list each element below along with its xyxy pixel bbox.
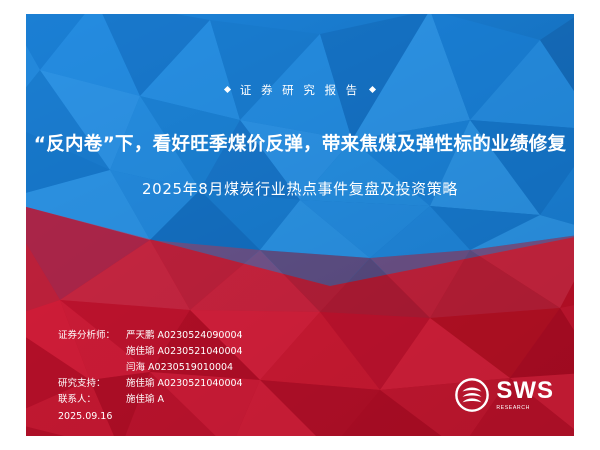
- analyst-row-2: 施佳瑜 A0230521040004: [58, 344, 243, 360]
- contact-label: 联系人：: [58, 392, 126, 408]
- sws-logo: SWS RESEARCH: [455, 378, 554, 412]
- report-eyebrow: 证 券 研 究 报 告: [0, 82, 600, 98]
- eyebrow-label: 证 券 研 究 报 告: [240, 83, 360, 97]
- report-date: 2025.09.16: [58, 409, 112, 425]
- sws-logo-mark-icon: [455, 378, 489, 412]
- diamond-left-icon: [224, 86, 231, 93]
- analyst-name-1: 严天鹏 A0230524090004: [126, 328, 243, 344]
- support-value: 施佳瑜 A0230521040004: [126, 376, 243, 392]
- analyst-label: 证券分析师：: [58, 328, 126, 344]
- contact-value: 施佳瑜 A: [126, 392, 164, 408]
- date-row: 2025.09.16: [58, 409, 243, 425]
- analyst-name-3: 闫海 A0230519010004: [126, 360, 233, 376]
- sws-wordmark: SWS: [496, 379, 554, 403]
- diamond-right-icon: [369, 86, 376, 93]
- metadata-block: 证券分析师： 严天鹏 A0230524090004 施佳瑜 A023052104…: [58, 328, 243, 425]
- analyst-row-3: 闫海 A0230519010004: [58, 360, 243, 376]
- sws-logo-text: SWS RESEARCH: [496, 379, 554, 411]
- analyst-row-1: 证券分析师： 严天鹏 A0230524090004: [58, 328, 243, 344]
- analyst-name-2: 施佳瑜 A0230521040004: [126, 344, 243, 360]
- page-title: “反内卷”下，看好旺季煤价反弹，带来焦煤及弹性标的业绩修复: [0, 130, 600, 156]
- contact-row: 联系人： 施佳瑜 A: [58, 392, 243, 408]
- sws-logo-subtext: RESEARCH: [496, 406, 554, 411]
- slide-content: 证 券 研 究 报 告 “反内卷”下，看好旺季煤价反弹，带来焦煤及弹性标的业绩修…: [0, 0, 600, 450]
- support-label: 研究支持：: [58, 376, 126, 392]
- page-subtitle: 2025年8月煤炭行业热点事件复盘及投资策略: [0, 178, 600, 199]
- slide-root: 证 券 研 究 报 告 “反内卷”下，看好旺季煤价反弹，带来焦煤及弹性标的业绩修…: [0, 0, 600, 450]
- support-row: 研究支持： 施佳瑜 A0230521040004: [58, 376, 243, 392]
